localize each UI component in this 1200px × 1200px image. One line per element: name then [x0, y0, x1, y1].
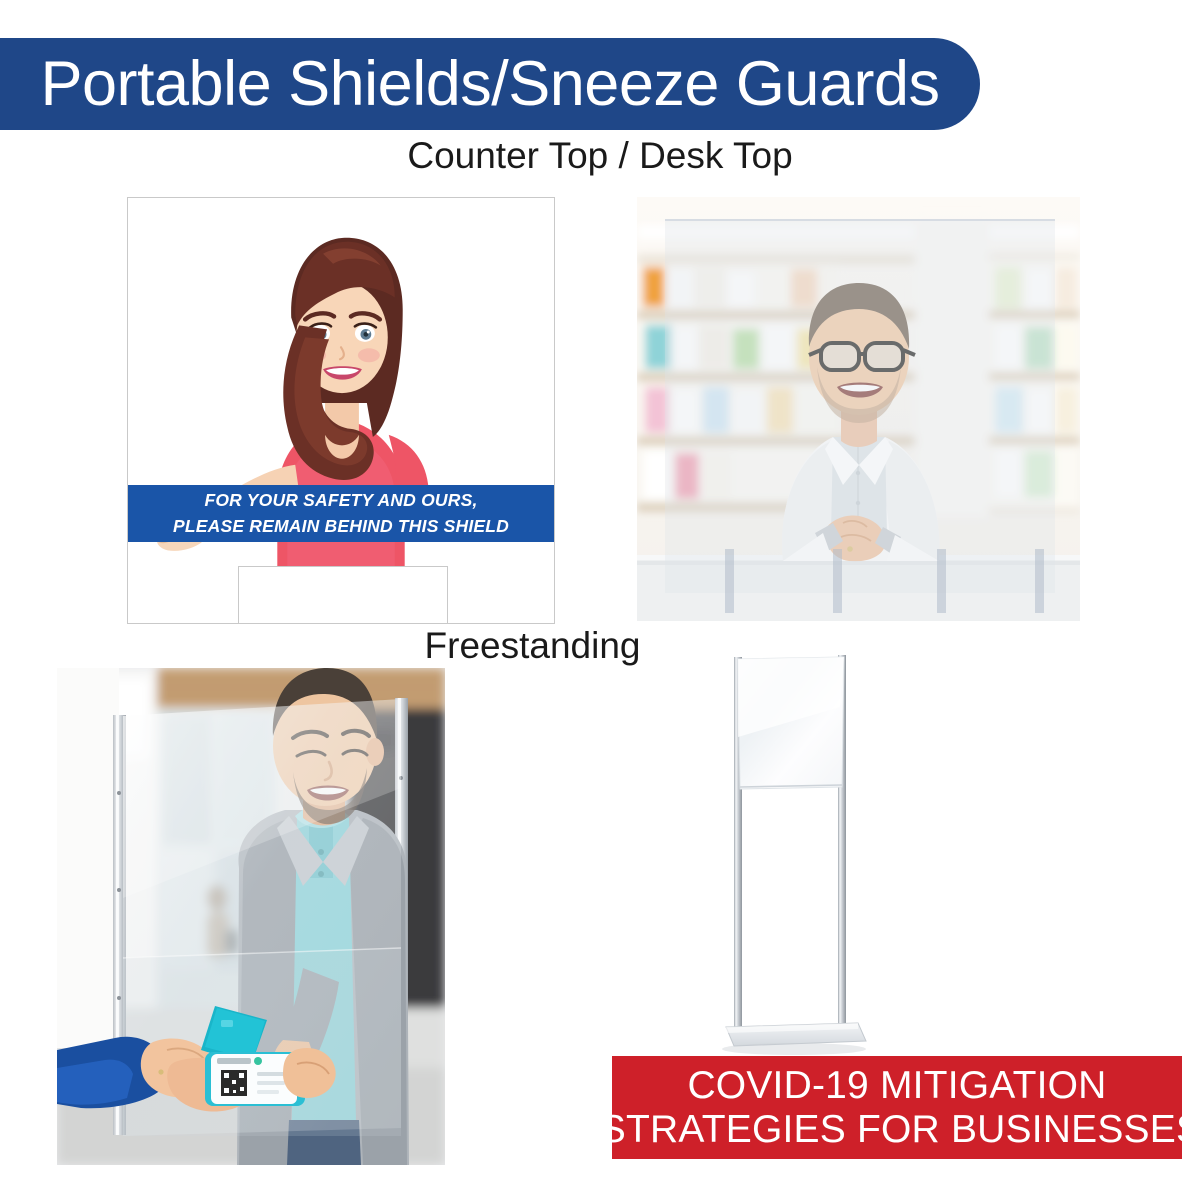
shield-support-leg [833, 549, 842, 613]
greeter-illustration: FASTSIGNS. More than fast. More than sig… [128, 198, 554, 623]
shield-support-leg [937, 549, 946, 613]
shield-support-leg [725, 549, 734, 613]
product-entry-shield [57, 668, 445, 1165]
page-title: Portable Shields/Sneeze Guards [40, 53, 939, 116]
shield-support-leg [1035, 549, 1044, 613]
poster-canvas: Portable Shields/Sneeze Guards Counter T… [0, 0, 1200, 1200]
shield-base-notch [238, 566, 448, 624]
pharmacy-clear-shield-overlay [665, 219, 1055, 593]
freestanding-unit-illustration [690, 645, 875, 1060]
shield-message-line-1: FOR YOUR SAFETY AND OURS, [204, 488, 477, 513]
section-label-counter-top: Counter Top / Desk Top [0, 135, 1200, 177]
section-label-freestanding: Freestanding [0, 625, 1065, 667]
header-banner: Portable Shields/Sneeze Guards [0, 38, 980, 130]
covid-strategy-banner: COVID-19 MITIGATION STRATEGIES FOR BUSIN… [612, 1056, 1182, 1159]
product-freestanding-unit [690, 645, 875, 1060]
covid-banner-line-2: STRATEGIES FOR BUSINESSES [600, 1108, 1200, 1152]
shield-safety-message: FOR YOUR SAFETY AND OURS, PLEASE REMAIN … [128, 485, 554, 542]
product-counter-shield: FASTSIGNS. More than fast. More than sig… [127, 197, 555, 624]
shield-message-line-2: PLEASE REMAIN BEHIND THIS SHIELD [173, 514, 509, 539]
entry-scene-illustration [57, 668, 445, 1165]
covid-banner-line-1: COVID-19 MITIGATION [687, 1064, 1106, 1108]
product-pharmacy-shield [637, 197, 1080, 621]
